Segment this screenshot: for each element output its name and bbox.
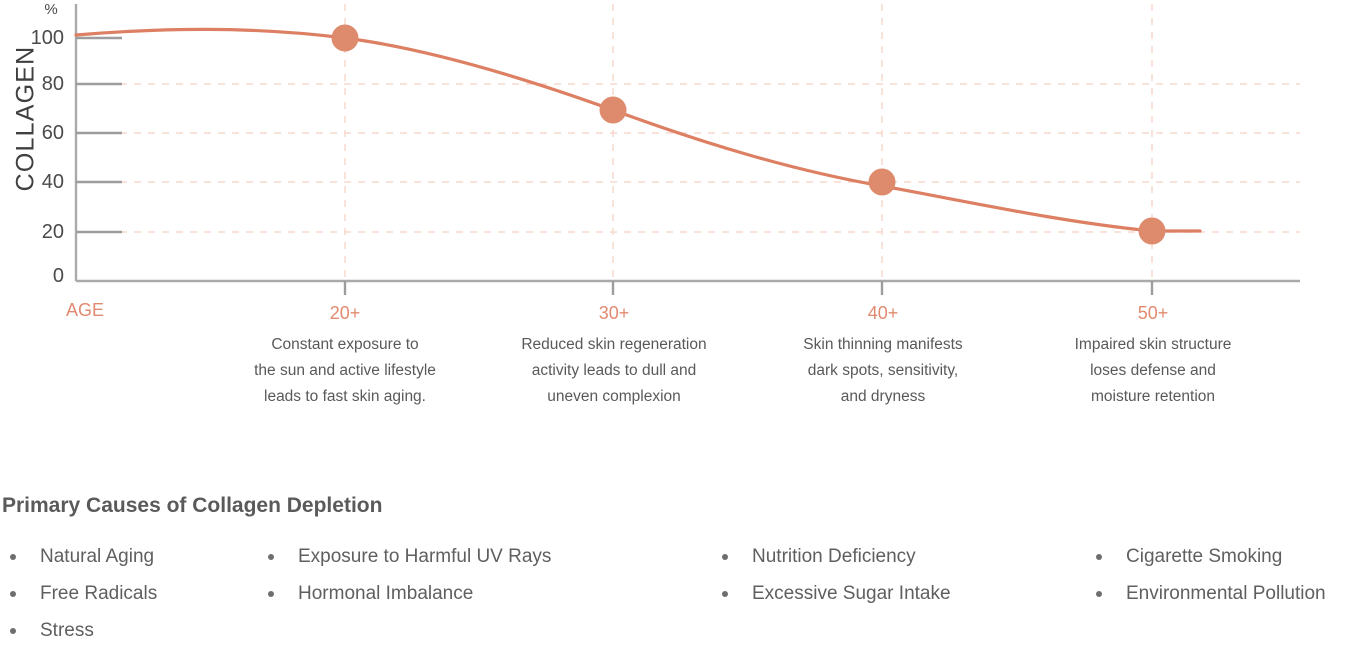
list-item: Free Radicals [2, 575, 157, 612]
y-tick-label-0: 0 [18, 266, 64, 286]
y-tick-label-80: 80 [18, 74, 64, 94]
stage-age-40: 40+ [760, 300, 1006, 326]
bullet-icon [1096, 591, 1102, 597]
stage-age-50: 50+ [1030, 300, 1276, 326]
cause-label: Natural Aging [40, 546, 154, 567]
stage-line-20-3: leads to fast skin aging. [215, 384, 475, 410]
stage-column-20: 20+ Constant exposure to the sun and act… [215, 300, 475, 410]
stage-line-50-2: loses defense and [1030, 358, 1276, 384]
list-item: Environmental Pollution [1088, 575, 1326, 612]
list-item: Natural Aging [2, 538, 157, 575]
y-tick-label-100: 100 [18, 28, 64, 48]
collagen-depletion-chart: % COLLAGEN 100 80 60 40 20 0 AGE [0, 0, 1367, 300]
list-item: Cigarette Smoking [1088, 538, 1326, 575]
stage-line-30-3: uneven complexion [485, 384, 743, 410]
list-item: Exposure to Harmful UV Rays [260, 538, 551, 575]
stage-line-40-2: dark spots, sensitivity, [760, 358, 1006, 384]
causes-column-2: Exposure to Harmful UV Rays Hormonal Imb… [260, 538, 551, 612]
data-point-50 [1139, 218, 1166, 245]
stage-line-40-3: and dryness [760, 384, 1006, 410]
bullet-icon [722, 554, 728, 560]
data-point-markers [332, 25, 1166, 245]
stage-age-20: 20+ [215, 300, 475, 326]
bullet-icon [10, 628, 16, 634]
cause-label: Hormonal Imbalance [298, 583, 473, 604]
x-axis-title-age: AGE [52, 300, 118, 321]
y-tick-label-20: 20 [18, 222, 64, 242]
cause-label: Cigarette Smoking [1126, 546, 1282, 567]
stage-line-30-2: activity leads to dull and [485, 358, 743, 384]
vertical-gridlines [345, 4, 1152, 281]
list-item: Nutrition Deficiency [714, 538, 951, 575]
horizontal-gridlines [120, 84, 1300, 232]
cause-label: Free Radicals [40, 583, 157, 604]
chart-plot-svg [0, 0, 1367, 300]
causes-column-4: Cigarette Smoking Environmental Pollutio… [1088, 538, 1326, 612]
stage-line-20-2: the sun and active lifestyle [215, 358, 475, 384]
bullet-icon [10, 554, 16, 560]
causes-column-3: Nutrition Deficiency Excessive Sugar Int… [714, 538, 951, 612]
stage-column-30: 30+ Reduced skin regeneration activity l… [485, 300, 743, 410]
stage-line-30-1: Reduced skin regeneration [485, 332, 743, 358]
x-axis-ticks [345, 281, 1152, 295]
stage-line-50-3: moisture retention [1030, 384, 1276, 410]
y-axis-ticks [76, 38, 122, 232]
cause-label: Environmental Pollution [1126, 583, 1326, 604]
cause-label: Exposure to Harmful UV Rays [298, 546, 551, 567]
y-tick-label-60: 60 [18, 123, 64, 143]
y-tick-label-40: 40 [18, 172, 64, 192]
bullet-icon [722, 591, 728, 597]
stage-column-50: 50+ Impaired skin structure loses defens… [1030, 300, 1276, 410]
list-item: Stress [2, 612, 157, 649]
causes-column-1: Natural Aging Free Radicals Stress [2, 538, 157, 649]
cause-label: Excessive Sugar Intake [752, 583, 951, 604]
collagen-curve [76, 29, 1200, 231]
data-point-20 [332, 25, 359, 52]
stage-age-30: 30+ [485, 300, 743, 326]
data-point-40 [869, 169, 896, 196]
data-point-30 [600, 97, 627, 124]
stage-line-20-1: Constant exposure to [215, 332, 475, 358]
bullet-icon [10, 591, 16, 597]
bullet-icon [268, 591, 274, 597]
list-item: Excessive Sugar Intake [714, 575, 951, 612]
list-item: Hormonal Imbalance [260, 575, 551, 612]
stage-line-40-1: Skin thinning manifests [760, 332, 1006, 358]
bullet-icon [268, 554, 274, 560]
cause-label: Stress [40, 620, 94, 641]
cause-label: Nutrition Deficiency [752, 546, 916, 567]
y-axis-unit: % [38, 2, 64, 17]
causes-heading: Primary Causes of Collagen Depletion [2, 494, 382, 518]
stage-column-40: 40+ Skin thinning manifests dark spots, … [760, 300, 1006, 410]
stage-line-50-1: Impaired skin structure [1030, 332, 1276, 358]
bullet-icon [1096, 554, 1102, 560]
